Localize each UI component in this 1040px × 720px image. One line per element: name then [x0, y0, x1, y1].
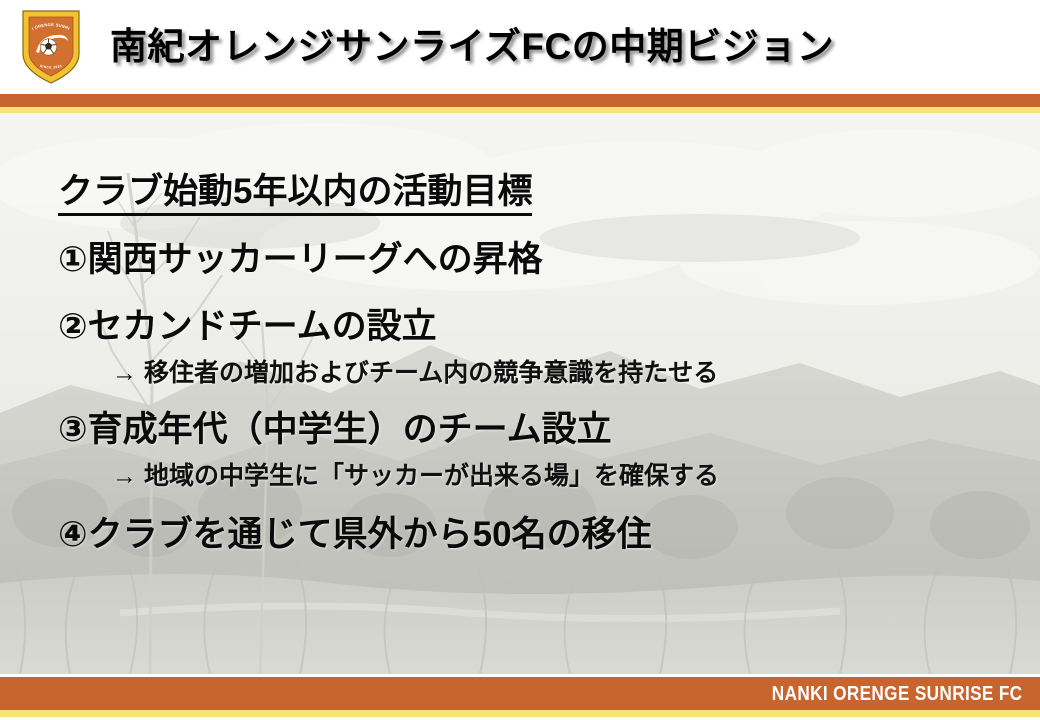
- page-title: 南紀オレンジサンライズFCの中期ビジョン: [110, 28, 834, 65]
- club-crest-icon: NANKI ORENGE SUNRISE FC SINCE 2020: [20, 8, 82, 86]
- goal-item-3: ③育成年代（中学生）のチーム設立: [58, 410, 1040, 450]
- goal-item-4: ④クラブを通じて県外から50名の移住: [58, 515, 1040, 555]
- footer-club-name: NANKI ORENGE SUNRISE FC: [771, 684, 1022, 704]
- footer-rule-yellow: [0, 710, 1040, 717]
- goal-item-3-detail: → 地域の中学生に「サッカーが出来る場」を確保する: [112, 462, 1040, 491]
- header-rule-orange: [0, 94, 1040, 107]
- lead-heading: クラブ始動5年以内の活動目標: [58, 171, 532, 216]
- slide: NANKI ORENGE SUNRISE FC SINCE 2020 南紀オレン…: [0, 0, 1040, 720]
- slide-content: クラブ始動5年以内の活動目標 ①関西サッカーリーグへの昇格 ②セカンドチームの設…: [0, 113, 1040, 674]
- footer-bar: NANKI ORENGE SUNRISE FC: [0, 677, 1040, 710]
- slide-header: NANKI ORENGE SUNRISE FC SINCE 2020 南紀オレン…: [0, 0, 1040, 93]
- goal-item-1: ①関西サッカーリーグへの昇格: [58, 240, 1040, 280]
- goal-item-2: ②セカンドチームの設立: [58, 307, 1040, 347]
- goal-item-2-detail: → 移住者の増加およびチーム内の競争意識を持たせる: [112, 359, 1040, 388]
